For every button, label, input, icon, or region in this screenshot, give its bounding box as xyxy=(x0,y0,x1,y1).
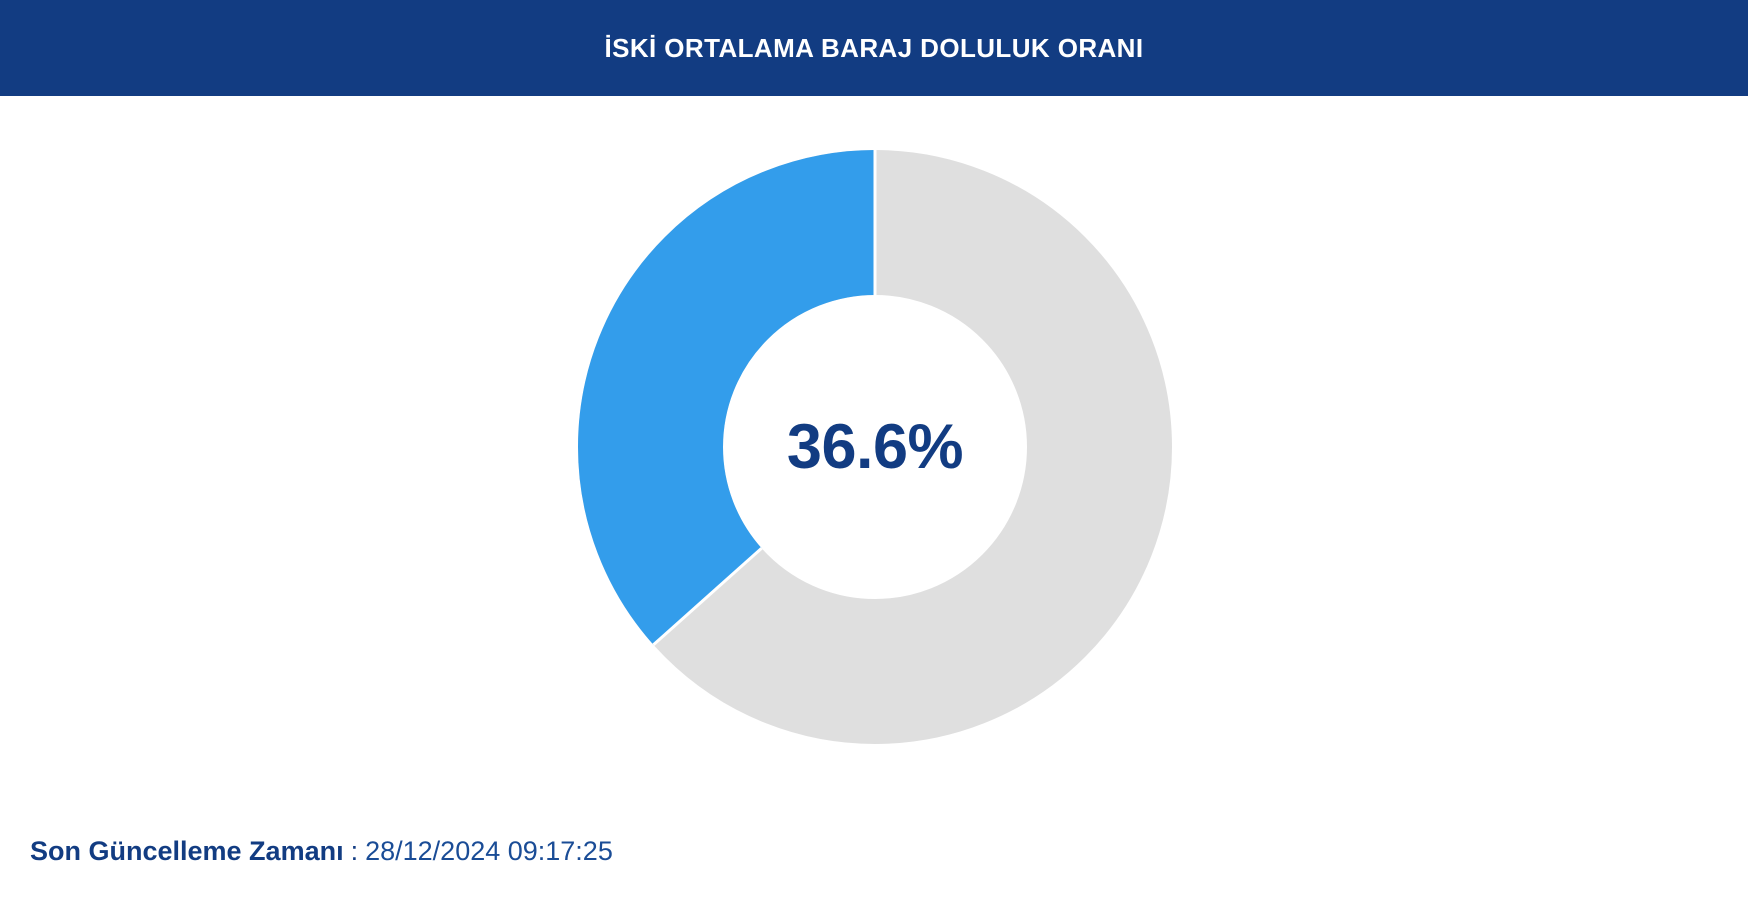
last-update-footer: Son Güncelleme Zamanı : 28/12/2024 09:17… xyxy=(30,838,613,865)
dam-occupancy-donut-chart: 36.6% xyxy=(578,150,1172,744)
chart-area: 36.6% xyxy=(0,96,1748,796)
page-title: İSKİ ORTALAMA BARAJ DOLULUK ORANI xyxy=(605,35,1144,61)
last-update-separator: : xyxy=(344,838,366,865)
donut-svg xyxy=(578,150,1172,744)
last-update-value: 28/12/2024 09:17:25 xyxy=(365,838,613,865)
last-update-label: Son Güncelleme Zamanı xyxy=(30,838,344,865)
header-bar: İSKİ ORTALAMA BARAJ DOLULUK ORANI xyxy=(0,0,1748,96)
